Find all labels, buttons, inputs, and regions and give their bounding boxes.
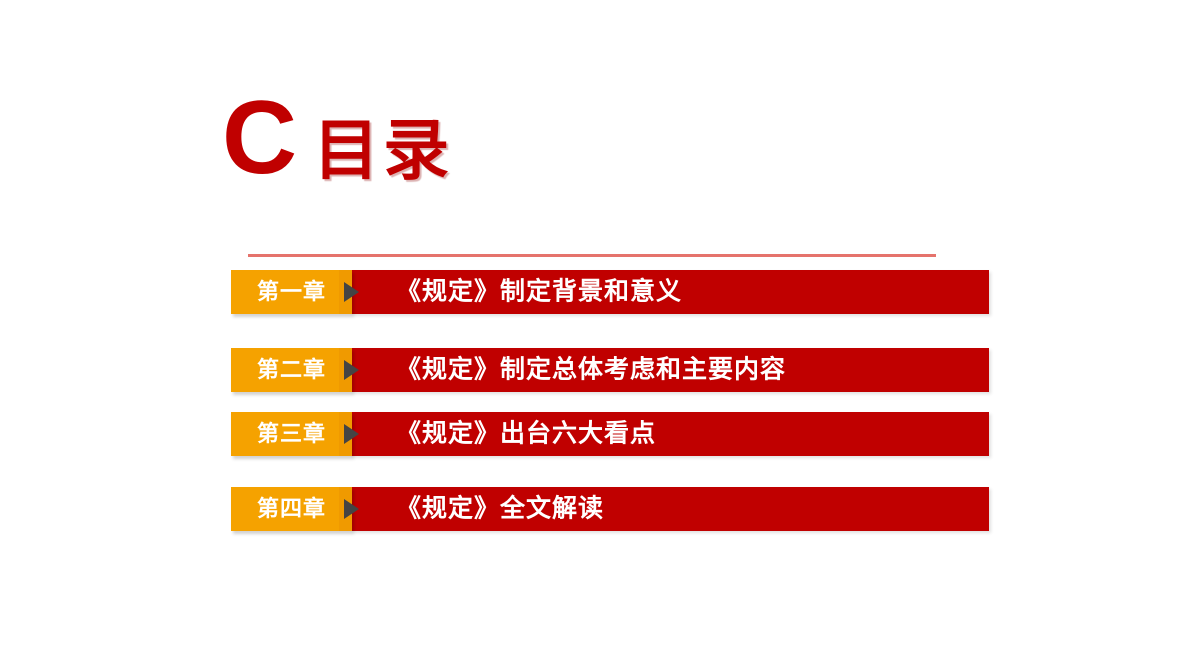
chapter-number-label: 第一章 (231, 270, 352, 314)
chapter-title-label: 《规定》全文解读 (396, 497, 604, 522)
slide-canvas: C 目录 《规定》制定背景和意义 第一章 《规定》制定总体考虑和主要内容 第二章 (0, 0, 1197, 672)
chapter-number-tag[interactable]: 第二章 (231, 348, 352, 392)
chapter-number-label: 第三章 (231, 412, 352, 456)
chapter-bar[interactable]: 《规定》出台六大看点 (351, 412, 989, 456)
chapter-title-label: 《规定》制定总体考虑和主要内容 (396, 358, 786, 383)
chapter-bar[interactable]: 《规定》制定背景和意义 (351, 270, 989, 314)
chapter-title-label: 《规定》出台六大看点 (396, 422, 656, 447)
chapter-list: 《规定》制定背景和意义 第一章 《规定》制定总体考虑和主要内容 第二章 《规定》… (0, 0, 1197, 672)
chapter-number-tag[interactable]: 第一章 (231, 270, 352, 314)
chapter-bar[interactable]: 《规定》制定总体考虑和主要内容 (351, 348, 989, 392)
chapter-row[interactable]: 《规定》出台六大看点 第三章 (231, 412, 989, 456)
chapter-number-label: 第四章 (231, 487, 352, 531)
chapter-number-tag[interactable]: 第三章 (231, 412, 352, 456)
chapter-number-label: 第二章 (231, 348, 352, 392)
triangle-right-icon (344, 424, 359, 444)
chapter-number-tag[interactable]: 第四章 (231, 487, 352, 531)
triangle-right-icon (344, 499, 359, 519)
triangle-right-icon (344, 282, 359, 302)
chapter-row[interactable]: 《规定》制定总体考虑和主要内容 第二章 (231, 348, 989, 392)
chapter-row[interactable]: 《规定》全文解读 第四章 (231, 487, 989, 531)
triangle-right-icon (344, 360, 359, 380)
chapter-bar[interactable]: 《规定》全文解读 (351, 487, 989, 531)
chapter-title-label: 《规定》制定背景和意义 (396, 280, 682, 305)
chapter-row[interactable]: 《规定》制定背景和意义 第一章 (231, 270, 989, 314)
